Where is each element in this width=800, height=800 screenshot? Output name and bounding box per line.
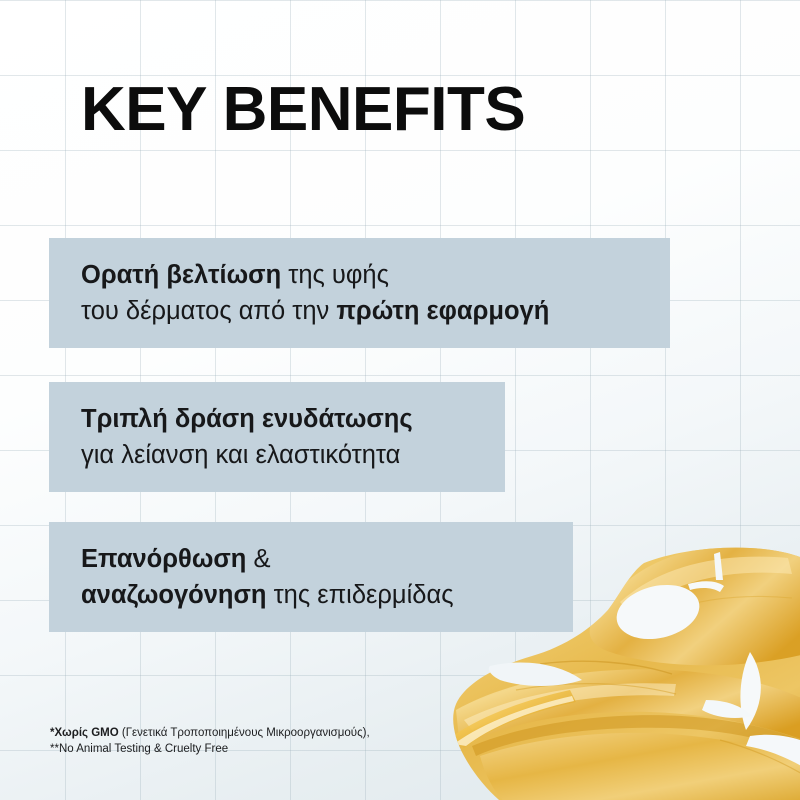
benefit-1-line-2: του δέρματος από την πρώτη εφαρμογή: [49, 293, 670, 329]
benefit-3-line-2-rest: της επιδερμίδας: [267, 581, 454, 609]
footnote-1-bold: *Χωρίς GMO: [50, 727, 119, 739]
benefit-3-line-2-bold: αναζωογόνηση: [81, 581, 267, 609]
page-title: KEY BENEFITS: [81, 79, 525, 141]
footnote-line-1: *Χωρίς GMO (Γενετικά Τροποποιημένους Μικ…: [50, 725, 370, 741]
benefit-2-line-2: για λείανση και ελαστικότητα: [49, 437, 505, 473]
benefit-3-line-1: Επανόρθωση &: [49, 541, 573, 577]
benefit-2-line-1-bold: Τριπλή δράση ενυδάτωσης: [81, 405, 413, 433]
benefit-3-line-1-rest: &: [246, 545, 270, 573]
benefit-3-line-1-bold: Επανόρθωση: [81, 545, 246, 573]
benefit-1-line-2-bold: πρώτη εφαρμογή: [336, 297, 549, 325]
footnote-1-rest: (Γενετικά Τροποποιημένους Μικροοργανισμο…: [119, 727, 370, 739]
benefit-3-line-2: αναζωογόνηση της επιδερμίδας: [49, 577, 573, 613]
benefit-1-line-1-rest: της υφής: [281, 261, 389, 289]
benefit-1-line-1-bold: Ορατή βελτίωση: [81, 261, 281, 289]
benefit-box-1: Ορατή βελτίωση της υφής του δέρματος από…: [49, 238, 670, 348]
benefit-2-line-1: Τριπλή δράση ενυδάτωσης: [49, 401, 505, 437]
benefit-2-line-2-rest: για λείανση και ελαστικότητα: [81, 441, 400, 469]
benefit-box-2: Τριπλή δράση ενυδάτωσης για λείανση και …: [49, 382, 505, 492]
footnote-line-2: **No Animal Testing & Cruelty Free: [50, 741, 370, 757]
benefit-1-line-2-rest: του δέρματος από την: [81, 297, 336, 325]
footnotes: *Χωρίς GMO (Γενετικά Τροποποιημένους Μικ…: [50, 725, 370, 757]
product-benefits-graphic: KEY BENEFITS Ορατή βελτίωση της υφής του…: [0, 0, 800, 800]
benefit-1-line-1: Ορατή βελτίωση της υφής: [49, 257, 670, 293]
benefit-box-3: Επανόρθωση & αναζωογόνηση της επιδερμίδα…: [49, 522, 573, 632]
